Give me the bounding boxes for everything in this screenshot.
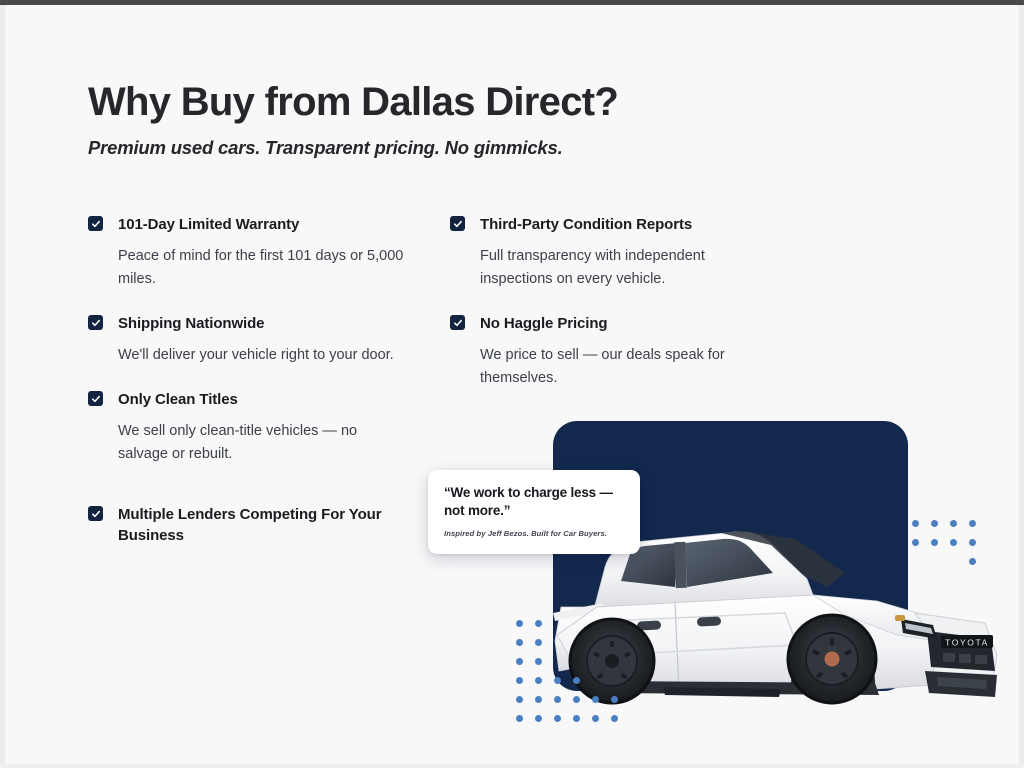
decorative-dot [516, 677, 523, 684]
feature-item-no-haggle-pricing: No Haggle Pricing We price to sell — our… [450, 313, 780, 390]
decorative-dot [554, 677, 561, 684]
decorative-dot [573, 677, 580, 684]
feature-head: Third-Party Condition Reports [450, 214, 780, 235]
page-right-edge [1019, 5, 1024, 768]
decorative-dot [573, 696, 580, 703]
checkbox-checked-icon [88, 391, 103, 406]
feature-title: No Haggle Pricing [480, 313, 608, 334]
decorative-dot [535, 715, 542, 722]
quote-attribution: Inspired by Jeff Bezos. Built for Car Bu… [444, 529, 624, 538]
feature-title: Multiple Lenders Competing For Your Busi… [118, 504, 383, 546]
toyota-badge-text: TOYOTA [945, 638, 989, 648]
checkbox-checked-icon [88, 315, 103, 330]
feature-head: No Haggle Pricing [450, 313, 780, 334]
decorative-dot [611, 715, 618, 722]
feature-description: Full transparency with independent inspe… [480, 245, 770, 291]
decorative-dot [516, 696, 523, 703]
checkbox-checked-icon [88, 506, 103, 521]
quote-card: “We work to charge less — not more.” Ins… [428, 470, 640, 554]
feature-description: Peace of mind for the first 101 days or … [118, 245, 408, 291]
decorative-dot [535, 658, 542, 665]
page-left-edge [0, 5, 5, 768]
heading-block: Why Buy from Dallas Direct? Premium used… [88, 78, 708, 159]
feature-title: Shipping Nationwide [118, 313, 264, 334]
decorative-dot [592, 715, 599, 722]
decorative-dot [516, 620, 523, 627]
page-root: Why Buy from Dallas Direct? Premium used… [0, 0, 1024, 768]
decorative-dot [573, 715, 580, 722]
page-title: Why Buy from Dallas Direct? [88, 78, 708, 126]
checkbox-checked-icon [88, 216, 103, 231]
decorative-dot [592, 696, 599, 703]
feature-item-clean-titles: Only Clean Titles We sell only clean-tit… [88, 389, 418, 466]
feature-title: 101-Day Limited Warranty [118, 214, 299, 235]
checkbox-checked-icon [450, 315, 465, 330]
decorative-dot [516, 658, 523, 665]
feature-column-left: 101-Day Limited Warranty Peace of mind f… [88, 214, 418, 546]
decorative-dot [535, 620, 542, 627]
decorative-dot [516, 639, 523, 646]
decorative-dot [535, 639, 542, 646]
decorative-dot [554, 715, 561, 722]
checkbox-checked-icon [450, 216, 465, 231]
feature-title: Third-Party Condition Reports [480, 214, 692, 235]
feature-item-warranty: 101-Day Limited Warranty Peace of mind f… [88, 214, 418, 291]
page-subtitle: Premium used cars. Transparent pricing. … [88, 137, 708, 159]
decorative-dot [535, 677, 542, 684]
feature-item-multiple-lenders: Multiple Lenders Competing For Your Busi… [88, 504, 418, 546]
dot-grid-left [516, 620, 636, 730]
feature-column-right: Third-Party Condition Reports Full trans… [450, 214, 780, 390]
decorative-dot [554, 696, 561, 703]
truck-front-wheel [788, 615, 876, 703]
decorative-dot [516, 715, 523, 722]
decorative-dot [535, 696, 542, 703]
feature-head: Multiple Lenders Competing For Your Busi… [88, 504, 418, 546]
window-top-strip [0, 0, 1024, 5]
quote-text: “We work to charge less — not more.” [444, 484, 624, 520]
feature-description: We'll deliver your vehicle right to your… [118, 344, 408, 367]
feature-head: Shipping Nationwide [88, 313, 418, 334]
page-bottom-edge [0, 764, 1024, 768]
feature-title: Only Clean Titles [118, 389, 238, 410]
feature-item-condition-reports: Third-Party Condition Reports Full trans… [450, 214, 780, 291]
feature-head: 101-Day Limited Warranty [88, 214, 418, 235]
decorative-dot [611, 696, 618, 703]
feature-item-shipping: Shipping Nationwide We'll deliver your v… [88, 313, 418, 367]
feature-description: We price to sell — our deals speak for t… [480, 344, 770, 390]
feature-head: Only Clean Titles [88, 389, 418, 410]
feature-description: We sell only clean-title vehicles — no s… [118, 420, 408, 466]
